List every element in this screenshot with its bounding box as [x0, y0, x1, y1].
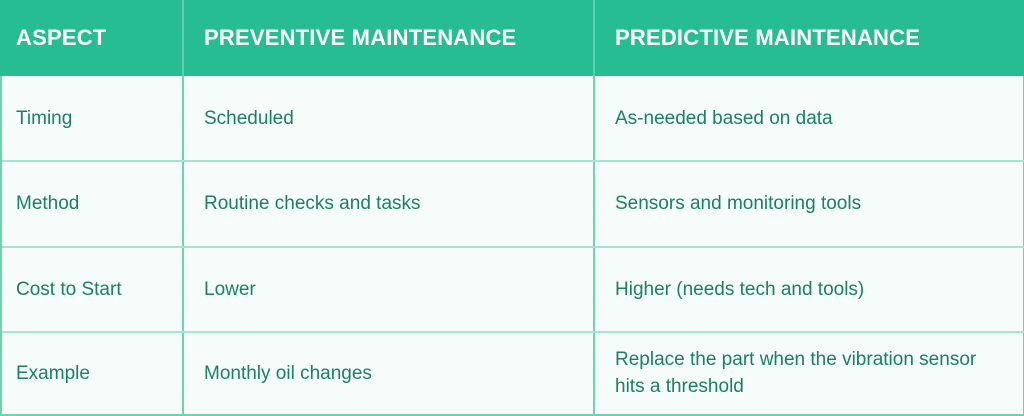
table-row: Cost to Start Lower Higher (needs tech a… [0, 247, 1024, 332]
cell-preventive-method: Routine checks and tasks [183, 161, 594, 246]
cell-predictive-cost-to-start: Higher (needs tech and tools) [594, 247, 1024, 332]
cell-predictive-method: Sensors and monitoring tools [594, 161, 1024, 246]
cell-preventive-example: Monthly oil changes [183, 332, 594, 415]
column-header-aspect: ASPECT [0, 0, 183, 76]
maintenance-comparison-table: ASPECT PREVENTIVE MAINTENANCE PREDICTIVE… [0, 0, 1024, 416]
table-header: ASPECT PREVENTIVE MAINTENANCE PREDICTIVE… [0, 0, 1024, 76]
cell-preventive-timing: Scheduled [183, 76, 594, 161]
table-row: Method Routine checks and tasks Sensors … [0, 161, 1024, 246]
table-row: Timing Scheduled As-needed based on data [0, 76, 1024, 161]
table-row: Example Monthly oil changes Replace the … [0, 332, 1024, 415]
column-header-preventive-maintenance: PREVENTIVE MAINTENANCE [183, 0, 594, 76]
cell-aspect-example: Example [0, 332, 183, 415]
cell-aspect-cost-to-start: Cost to Start [0, 247, 183, 332]
comparison-table-container: ASPECT PREVENTIVE MAINTENANCE PREDICTIVE… [0, 0, 1024, 416]
table-body: Timing Scheduled As-needed based on data… [0, 76, 1024, 415]
header-row: ASPECT PREVENTIVE MAINTENANCE PREDICTIVE… [0, 0, 1024, 76]
column-header-predictive-maintenance: PREDICTIVE MAINTENANCE [594, 0, 1024, 76]
cell-aspect-timing: Timing [0, 76, 183, 161]
cell-aspect-method: Method [0, 161, 183, 246]
cell-predictive-timing: As-needed based on data [594, 76, 1024, 161]
cell-preventive-cost-to-start: Lower [183, 247, 594, 332]
cell-predictive-example: Replace the part when the vibration sens… [594, 332, 1024, 415]
